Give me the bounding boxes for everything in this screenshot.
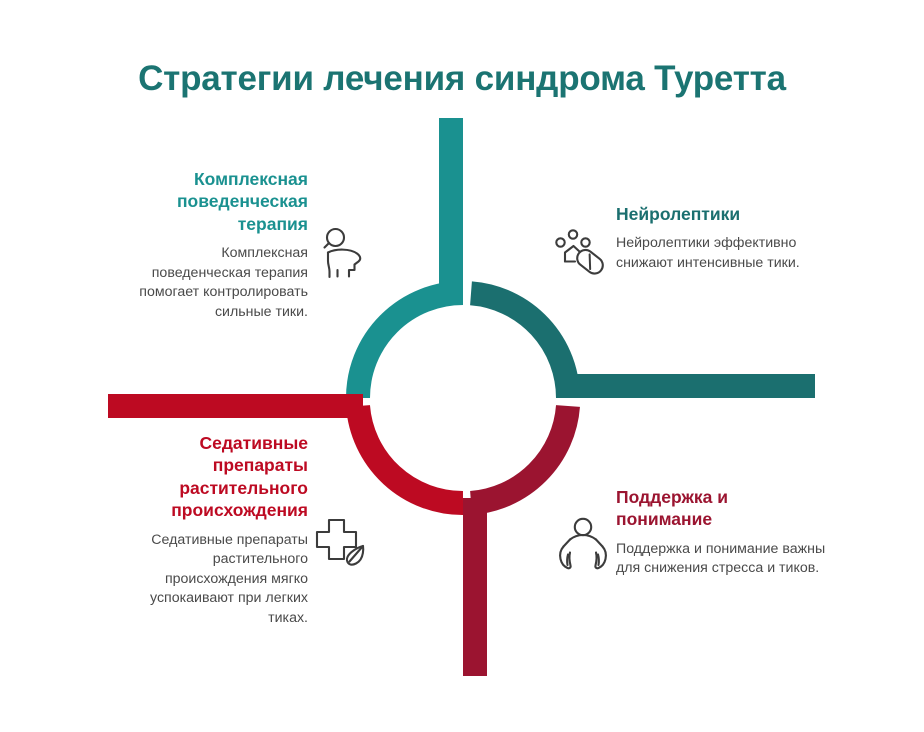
quadrant-support: Поддержка и понимание Поддержка и понима…	[616, 486, 826, 579]
segment-top-right	[471, 293, 815, 398]
person-head-icon	[316, 226, 368, 280]
cross-leaf-icon	[311, 516, 371, 570]
segment-top-left	[358, 118, 463, 398]
quadrant-neuroleptics: Нейролептики Нейролептики эффективно сни…	[616, 203, 816, 274]
support-hands-icon	[556, 516, 610, 572]
infographic-canvas: Стратегии лечения синдрома Туретта	[0, 0, 924, 732]
quadrant-sedative: Седативные препараты растительного проис…	[120, 432, 308, 629]
quadrant-sedative-heading: Седативные препараты растительного проис…	[120, 432, 308, 522]
quadrant-support-heading: Поддержка и понимание	[616, 486, 826, 531]
quadrant-cbt-body: Комплексная поведенческая терапия помога…	[128, 244, 308, 322]
segment-bottom-right	[463, 406, 568, 676]
quadrant-neuroleptics-heading: Нейролептики	[616, 203, 816, 225]
quadrant-sedative-body: Седативные препараты растительного проис…	[120, 531, 308, 629]
quadrant-cbt: Комплексная поведенческая терапия Компле…	[128, 168, 308, 323]
page-title: Стратегии лечения синдрома Туретта	[0, 58, 924, 100]
quadrant-cbt-heading: Комплексная поведенческая терапия	[128, 168, 308, 235]
quadrant-support-body: Поддержка и понимание важны для снижения…	[616, 540, 826, 579]
pills-icon	[552, 226, 606, 280]
quadrant-neuroleptics-body: Нейролептики эффективно снижают интенсив…	[616, 234, 816, 273]
